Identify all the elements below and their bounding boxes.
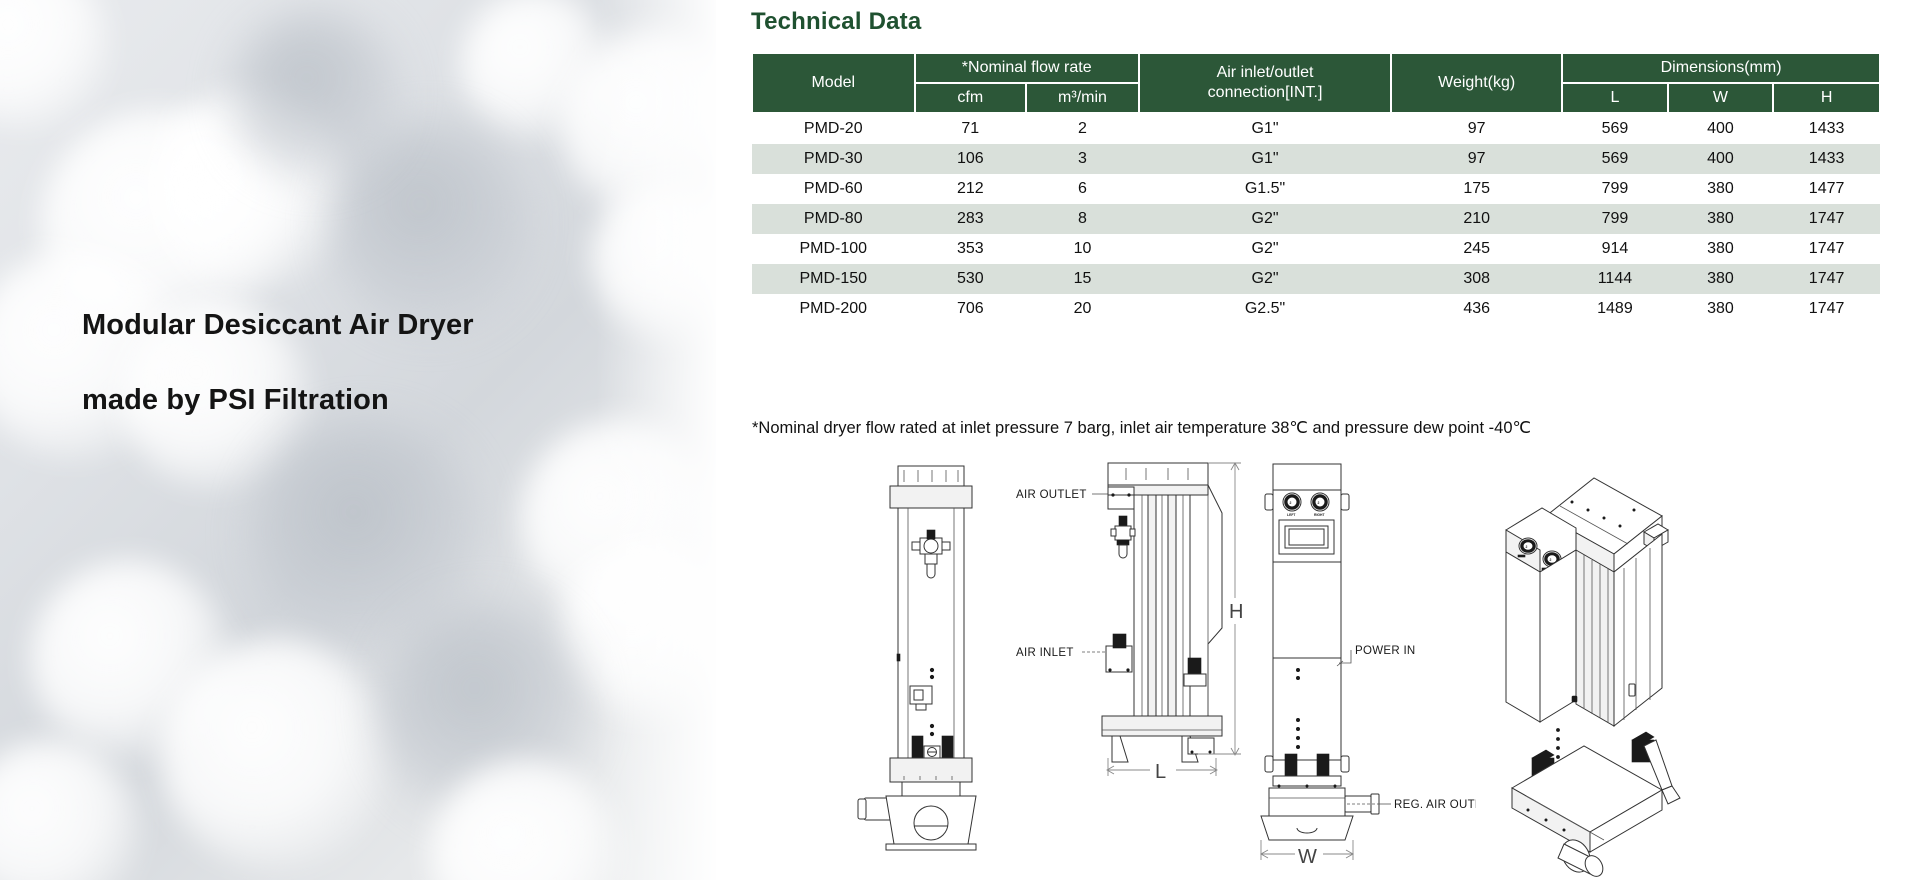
cell-dim-l: 799 bbox=[1562, 174, 1668, 204]
cell-connection: G1" bbox=[1139, 113, 1391, 144]
table-head: Model *Nominal flow rate Air inlet/outle… bbox=[752, 54, 1880, 113]
cell-dim-w: 380 bbox=[1668, 234, 1774, 264]
bokeh-circle bbox=[0, 0, 110, 130]
bokeh-circle bbox=[460, 0, 610, 140]
bokeh-circle-dim bbox=[380, 600, 590, 820]
technical-drawings: AIR OUTLET bbox=[716, 458, 1919, 880]
th-connection: Air inlet/outlet connection[INT.] bbox=[1139, 54, 1391, 113]
cell-weight: 97 bbox=[1391, 113, 1562, 144]
table-header-row-1: Model *Nominal flow rate Air inlet/outle… bbox=[752, 54, 1880, 83]
cell-dim-w: 400 bbox=[1668, 113, 1774, 144]
th-dim-w: W bbox=[1668, 83, 1774, 113]
drawing-side-view-dryer bbox=[846, 458, 1016, 880]
cell-dim-w: 400 bbox=[1668, 144, 1774, 174]
table-row: PMD-80 283 8 G2" 210 799 380 1747 bbox=[752, 204, 1880, 234]
bokeh-circle bbox=[430, 760, 620, 880]
table-row: PMD-200 706 20 G2.5" 436 1489 380 1747 bbox=[752, 294, 1880, 324]
drawing-isometric-view: 2 2 bbox=[1476, 458, 1686, 880]
bokeh-circle bbox=[160, 640, 390, 870]
cell-cfm: 353 bbox=[915, 234, 1027, 264]
th-model: Model bbox=[752, 54, 915, 113]
table-row: PMD-30 106 3 G1" 97 569 400 1433 bbox=[752, 144, 1880, 174]
cell-dim-l: 569 bbox=[1562, 113, 1668, 144]
cell-weight: 210 bbox=[1391, 204, 1562, 234]
cell-connection: G1.5" bbox=[1139, 174, 1391, 204]
cell-cfm: 283 bbox=[915, 204, 1027, 234]
cell-m3min: 10 bbox=[1026, 234, 1139, 264]
technical-data-table: Model *Nominal flow rate Air inlet/outle… bbox=[751, 54, 1881, 324]
cell-weight: 245 bbox=[1391, 234, 1562, 264]
cell-m3min: 3 bbox=[1026, 144, 1139, 174]
label-air-inlet: AIR INLET bbox=[1016, 647, 1074, 659]
hero-title-block: Modular Desiccant Air Dryer made by PSI … bbox=[82, 310, 682, 417]
bokeh-circle bbox=[560, 30, 716, 220]
cell-connection: G2" bbox=[1139, 234, 1391, 264]
bokeh-circle bbox=[520, 420, 716, 620]
bokeh-circle bbox=[30, 560, 230, 760]
svg-text:2: 2 bbox=[1318, 501, 1320, 505]
drawing-front-view-control-panel: 2 2 LEFT RIGHT bbox=[1251, 458, 1476, 880]
cell-dim-l: 1489 bbox=[1562, 294, 1668, 324]
bokeh-circle bbox=[150, 90, 350, 290]
hero-title-line-2: made by PSI Filtration bbox=[82, 385, 682, 417]
cell-dim-h: 1433 bbox=[1773, 113, 1880, 144]
cell-dim-l: 799 bbox=[1562, 204, 1668, 234]
cell-dim-l: 569 bbox=[1562, 144, 1668, 174]
page-root: Modular Desiccant Air Dryer made by PSI … bbox=[0, 0, 1919, 880]
th-m3min: m³/min bbox=[1026, 83, 1139, 113]
table-row: PMD-60 212 6 G1.5" 175 799 380 1477 bbox=[752, 174, 1880, 204]
th-dimensions: Dimensions(mm) bbox=[1562, 54, 1880, 83]
label-gauge-right: RIGHT bbox=[1314, 513, 1325, 517]
cell-connection: G1" bbox=[1139, 144, 1391, 174]
label-reg-air-outlet: REG. AIR OUTLET bbox=[1394, 799, 1476, 811]
cell-dim-h: 1433 bbox=[1773, 144, 1880, 174]
cell-dim-h: 1747 bbox=[1773, 294, 1880, 324]
cell-dim-l: 1144 bbox=[1562, 264, 1668, 294]
cell-dim-w: 380 bbox=[1668, 294, 1774, 324]
cell-dim-w: 380 bbox=[1668, 204, 1774, 234]
cell-connection: G2" bbox=[1139, 204, 1391, 234]
cell-model: PMD-30 bbox=[752, 144, 915, 174]
cell-m3min: 6 bbox=[1026, 174, 1139, 204]
th-dim-h: H bbox=[1773, 83, 1880, 113]
cell-weight: 436 bbox=[1391, 294, 1562, 324]
content-panel: Technical Data Model *Nominal flow rate … bbox=[716, 0, 1919, 880]
cell-weight: 308 bbox=[1391, 264, 1562, 294]
th-cfm: cfm bbox=[915, 83, 1027, 113]
th-weight: Weight(kg) bbox=[1391, 54, 1562, 113]
label-dim-w: W bbox=[1298, 846, 1317, 868]
th-connection-line-2: connection[INT.] bbox=[1208, 84, 1323, 101]
cell-m3min: 8 bbox=[1026, 204, 1139, 234]
bokeh-circle bbox=[40, 110, 280, 340]
table-row: PMD-20 71 2 G1" 97 569 400 1433 bbox=[752, 113, 1880, 144]
label-power-in: POWER IN bbox=[1355, 645, 1416, 657]
cell-dim-l: 914 bbox=[1562, 234, 1668, 264]
cell-weight: 175 bbox=[1391, 174, 1562, 204]
cell-model: PMD-20 bbox=[752, 113, 915, 144]
cell-dim-w: 380 bbox=[1668, 174, 1774, 204]
cell-dim-h: 1477 bbox=[1773, 174, 1880, 204]
cell-model: PMD-60 bbox=[752, 174, 915, 204]
table-row: PMD-100 353 10 G2" 245 914 380 1747 bbox=[752, 234, 1880, 264]
cell-cfm: 71 bbox=[915, 113, 1027, 144]
cell-connection: G2.5" bbox=[1139, 294, 1391, 324]
cell-dim-w: 380 bbox=[1668, 264, 1774, 294]
label-dim-l: L bbox=[1155, 761, 1166, 783]
bokeh-circle bbox=[560, 540, 716, 720]
svg-text:2: 2 bbox=[1290, 501, 1292, 505]
hero-panel: Modular Desiccant Air Dryer made by PSI … bbox=[0, 0, 716, 880]
table-footnote: *Nominal dryer flow rated at inlet press… bbox=[752, 418, 1531, 438]
cell-m3min: 20 bbox=[1026, 294, 1139, 324]
bokeh-circle-dim bbox=[230, 10, 400, 180]
cell-cfm: 706 bbox=[915, 294, 1027, 324]
drawing-side-view-dimensioned: AIR OUTLET bbox=[1016, 458, 1246, 880]
page-title: Technical Data bbox=[751, 8, 921, 36]
label-gauge-left: LEFT bbox=[1287, 513, 1296, 517]
bokeh-circle-dim bbox=[330, 120, 530, 330]
cell-cfm: 106 bbox=[915, 144, 1027, 174]
hero-title-line-1: Modular Desiccant Air Dryer bbox=[82, 310, 682, 342]
th-dim-l: L bbox=[1562, 83, 1668, 113]
table-body: PMD-20 71 2 G1" 97 569 400 1433 PMD-30 1… bbox=[752, 113, 1880, 324]
cell-m3min: 15 bbox=[1026, 264, 1139, 294]
cell-model: PMD-100 bbox=[752, 234, 915, 264]
cell-cfm: 530 bbox=[915, 264, 1027, 294]
cell-m3min: 2 bbox=[1026, 113, 1139, 144]
th-connection-line-1: Air inlet/outlet bbox=[1217, 64, 1314, 81]
label-dim-h: H bbox=[1229, 601, 1243, 623]
hero-edge-fade bbox=[596, 0, 716, 880]
bokeh-circle-dim bbox=[250, 420, 480, 650]
cell-dim-h: 1747 bbox=[1773, 204, 1880, 234]
label-air-outlet: AIR OUTLET bbox=[1016, 489, 1087, 501]
cell-model: PMD-200 bbox=[752, 294, 915, 324]
cell-cfm: 212 bbox=[915, 174, 1027, 204]
cell-weight: 97 bbox=[1391, 144, 1562, 174]
table-row: PMD-150 530 15 G2" 308 1144 380 1747 bbox=[752, 264, 1880, 294]
svg-text:2: 2 bbox=[1550, 558, 1552, 562]
cell-connection: G2" bbox=[1139, 264, 1391, 294]
th-nominal-flow-rate: *Nominal flow rate bbox=[915, 54, 1139, 83]
bokeh-circle bbox=[0, 740, 140, 880]
cell-model: PMD-150 bbox=[752, 264, 915, 294]
cell-dim-h: 1747 bbox=[1773, 264, 1880, 294]
cell-dim-h: 1747 bbox=[1773, 234, 1880, 264]
svg-text:2: 2 bbox=[1526, 545, 1528, 549]
cell-model: PMD-80 bbox=[752, 204, 915, 234]
